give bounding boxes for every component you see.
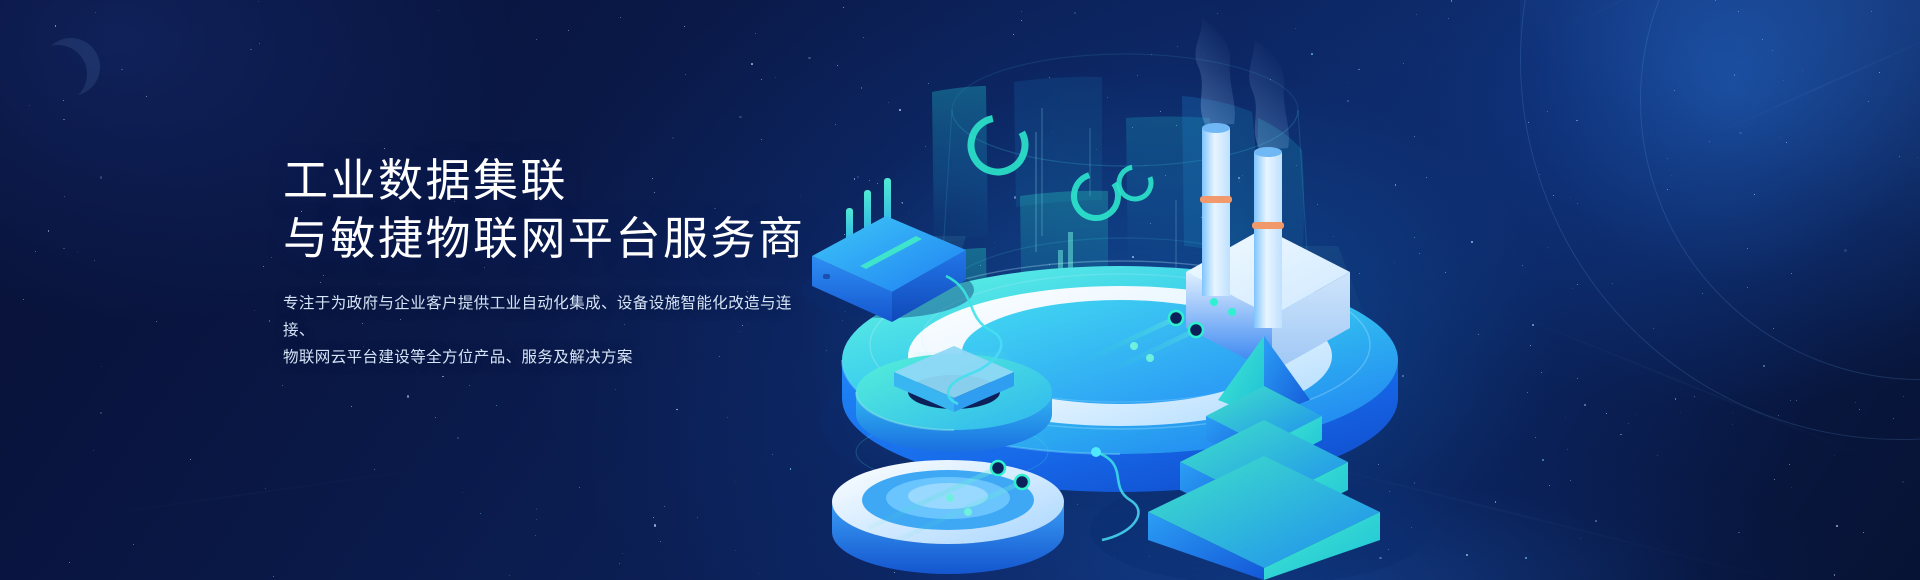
smoke-plume-left (1196, 18, 1235, 126)
headline-line-2: 与敏捷物联网平台服务商 (283, 210, 903, 268)
star (100, 412, 102, 414)
headline-line-1: 工业数据集联 (283, 152, 903, 210)
star (509, 575, 510, 576)
star (48, 230, 50, 232)
star (146, 96, 147, 97)
star (619, 563, 620, 564)
smoke-plume-right (1249, 40, 1289, 150)
star (254, 310, 255, 311)
star (761, 79, 762, 80)
smokestack-right (1252, 147, 1284, 328)
star (374, 469, 375, 470)
star (23, 299, 24, 300)
star (751, 63, 753, 65)
star (35, 251, 36, 252)
star (133, 544, 134, 545)
star (95, 12, 97, 14)
star (69, 562, 70, 563)
star (273, 576, 274, 577)
star (265, 488, 266, 489)
factory-smokestacks (1186, 18, 1350, 372)
star (775, 77, 776, 78)
star (63, 119, 65, 121)
hero-copy: 工业数据集联 与敏捷物联网平台服务商 专注于为政府与企业客户提供工业自动化集成、… (283, 152, 903, 371)
star (735, 481, 736, 482)
star (758, 573, 759, 574)
star (462, 492, 463, 493)
star (94, 260, 95, 261)
star (772, 454, 773, 455)
star (480, 513, 481, 514)
star (77, 251, 78, 252)
star (101, 366, 102, 367)
star (620, 17, 621, 18)
star (93, 450, 94, 451)
star (351, 406, 352, 407)
star (63, 100, 64, 101)
star (685, 74, 686, 75)
star (258, 1, 259, 2)
star (100, 176, 102, 178)
star (259, 43, 260, 44)
star (697, 517, 698, 518)
star (536, 508, 538, 510)
star (739, 116, 741, 118)
star (727, 417, 728, 418)
star (271, 257, 272, 258)
star (384, 148, 386, 150)
star (435, 417, 436, 418)
star (64, 196, 65, 197)
star (55, 25, 57, 27)
smokestack-left (1200, 123, 1232, 296)
star (615, 389, 616, 390)
star (761, 139, 762, 140)
star (442, 376, 444, 378)
star (496, 405, 497, 406)
star (672, 137, 674, 139)
star (469, 385, 470, 386)
star (660, 541, 661, 542)
star (121, 69, 123, 71)
iot-isometric-illustration (790, 0, 1920, 580)
star (664, 506, 666, 508)
star (676, 409, 678, 411)
subtitle-line-1: 专注于为政府与企业客户提供工业自动化集成、设备设施智能化改造与连接、 (283, 290, 803, 344)
star (63, 248, 65, 250)
star (407, 395, 409, 397)
star (568, 30, 569, 31)
star (156, 321, 157, 322)
star (190, 459, 191, 460)
star (263, 266, 264, 267)
star (755, 33, 756, 34)
subtitle-line-2: 物联网云平台建设等全方位产品、服务及解决方案 (283, 344, 803, 371)
star (579, 487, 580, 488)
hero-banner: 工业数据集联 与敏捷物联网平台服务商 专注于为政府与企业客户提供工业自动化集成、… (0, 0, 1920, 580)
star (438, 10, 439, 11)
star (654, 524, 656, 526)
star (29, 105, 30, 106)
star (457, 437, 459, 439)
star (282, 385, 284, 387)
star (653, 517, 654, 518)
star (536, 519, 537, 520)
star (684, 26, 685, 27)
star (622, 553, 623, 554)
star (735, 550, 736, 551)
star (269, 320, 271, 322)
star (535, 535, 536, 536)
star (536, 39, 537, 40)
star (250, 49, 252, 51)
